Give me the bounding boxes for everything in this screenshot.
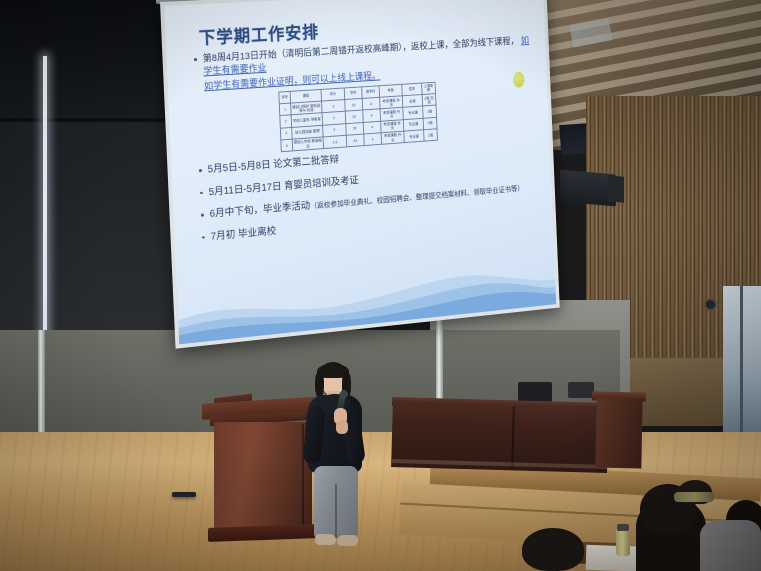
course-table-wrap: 序号课程学分学时周学时考核性质上课周期 1婴幼儿照护 服务政策与 标准2324考…	[278, 76, 535, 152]
thermos-bottle	[616, 528, 630, 556]
speaker-person	[300, 362, 370, 552]
slide: 下学期工作安排 第8周4月13日开始（清明后第二周错开返校高峰期），返校上课，全…	[164, 0, 556, 344]
table-cell: 2周	[424, 129, 438, 142]
chair-back	[518, 382, 552, 402]
table-header-cell: 上课周期	[422, 83, 436, 95]
slide-bullet-list-2: 5月5日-5月8日 论文第二批答辩 5月11日-5月17日 育婴员培训及考证 6…	[197, 139, 539, 245]
audience-head-2	[522, 528, 584, 571]
shoe-right	[337, 535, 358, 546]
table-cell: 4	[364, 133, 382, 146]
table-cell: 2	[280, 115, 292, 128]
table-cell: 婴幼儿学前 教育概论	[292, 137, 323, 151]
table-header-cell: 序号	[279, 92, 291, 104]
table-cell: 2周	[423, 117, 437, 130]
screen-frame: 下学期工作安排 第8周4月13日开始（清明后第二周错开返校高峰期），返校上课，全…	[160, 0, 560, 349]
microphone-head	[340, 390, 348, 398]
table-cell: 1.5	[323, 135, 347, 149]
table-cell: 3	[280, 127, 292, 140]
window-mullion	[740, 286, 743, 434]
ceiling-panel-slat	[521, 0, 761, 48]
hair-left	[315, 372, 324, 397]
table-cell: 1	[279, 103, 291, 116]
trouser-seam	[335, 484, 337, 538]
podium-body	[214, 422, 312, 530]
lecture-hall-photo: 下学期工作安排 第8周4月13日开始（清明后第二周错开返校高峰期），返校上课，全…	[0, 0, 761, 571]
audience-grey-coat	[700, 520, 761, 571]
table-cell: 24	[346, 134, 364, 147]
screen-surface: 下学期工作安排 第8周4月13日开始（清明后第二周错开返校高峰期），返校上课，全…	[164, 0, 556, 344]
ceiling-speaker-side	[608, 175, 624, 202]
table-cell: 2周	[423, 105, 437, 118]
table-cell: 专业课	[404, 130, 424, 143]
table-cell: 2周 完成	[422, 94, 436, 107]
shoe-left	[315, 534, 336, 545]
table-cell: 考查课程 作业	[381, 131, 404, 144]
hand-lower	[336, 420, 348, 434]
thermos-cap	[617, 524, 629, 531]
course-table: 序号课程学分学时周学时考核性质上课周期 1婴幼儿照护 服务政策与 标准2324考…	[278, 82, 438, 152]
chair-back-2	[568, 382, 594, 398]
projection-screen: 下学期工作安排 第8周4月13日开始（清明后第二周错开返校高峰期），返校上课，全…	[160, 0, 560, 353]
floor-object	[172, 492, 196, 497]
audience-scarf	[674, 492, 714, 502]
bullet-graduation-text: 6月中下旬，毕业季活动	[209, 201, 310, 220]
camera-icon	[706, 300, 715, 309]
right-lectern	[595, 398, 642, 469]
table-cell: 4	[281, 139, 293, 152]
